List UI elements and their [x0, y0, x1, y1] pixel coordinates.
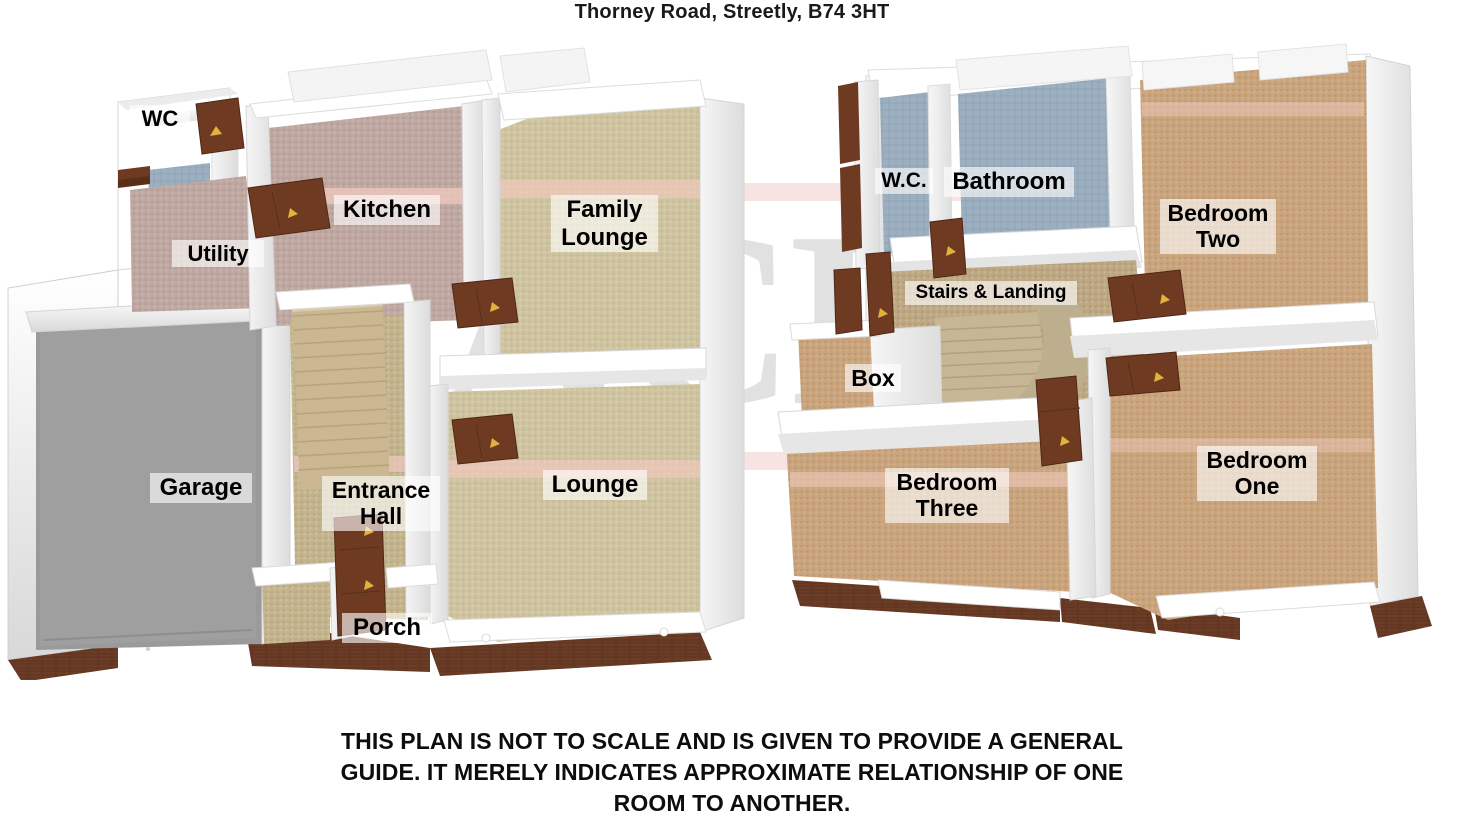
- room-label-stairs-landing: Stairs & Landing: [905, 281, 1077, 305]
- disclaimer-line-1: THIS PLAN IS NOT TO SCALE AND IS GIVEN T…: [0, 726, 1464, 757]
- room-label-lounge: Lounge: [543, 470, 647, 500]
- door-lounge: [452, 414, 518, 464]
- floorplan-page: Thorney Road, Streetly, B74 3HT ACRES: [0, 0, 1464, 824]
- door-bedroom-one: [1106, 352, 1180, 396]
- room-label-garage: Garage: [150, 473, 252, 503]
- staircase: [292, 298, 390, 490]
- room-label-wc: WC: [130, 105, 190, 132]
- room-label-bedroom-three: Bedroom Three: [885, 468, 1009, 523]
- disclaimer-line-3: ROOM TO ANOTHER.: [0, 788, 1464, 819]
- door-wc-upper: [834, 268, 862, 334]
- disclaimer-line-2: GUIDE. IT MERELY INDICATES APPROXIMATE R…: [0, 757, 1464, 788]
- room-label-bathroom: Bathroom: [944, 167, 1074, 197]
- room-label-utility: Utility: [172, 240, 264, 267]
- room-label-entrance-hall: Entrance Hall: [322, 476, 440, 531]
- door-bathroom: [930, 218, 966, 278]
- room-label-porch: Porch: [342, 613, 432, 643]
- room-label-box: Box: [845, 364, 901, 392]
- door-family-lounge: [452, 278, 518, 328]
- door-box: [866, 252, 894, 336]
- ground-floor-plan: [0, 20, 790, 680]
- room-label-bedroom-one: Bedroom One: [1197, 446, 1317, 501]
- room-label-kitchen: Kitchen: [334, 195, 440, 225]
- door-bedroom-two: [1108, 270, 1186, 322]
- room-label-family-lounge: Family Lounge: [551, 195, 658, 252]
- first-floor-plan: [770, 40, 1464, 660]
- disclaimer: THIS PLAN IS NOT TO SCALE AND IS GIVEN T…: [0, 726, 1464, 819]
- door-wc: [196, 98, 244, 154]
- room-label-wc-upper: W.C.: [875, 168, 933, 194]
- room-label-bedroom-two: Bedroom Two: [1160, 199, 1276, 254]
- door-bedroom-three: [1036, 376, 1082, 466]
- door-utility-hall: [248, 178, 330, 238]
